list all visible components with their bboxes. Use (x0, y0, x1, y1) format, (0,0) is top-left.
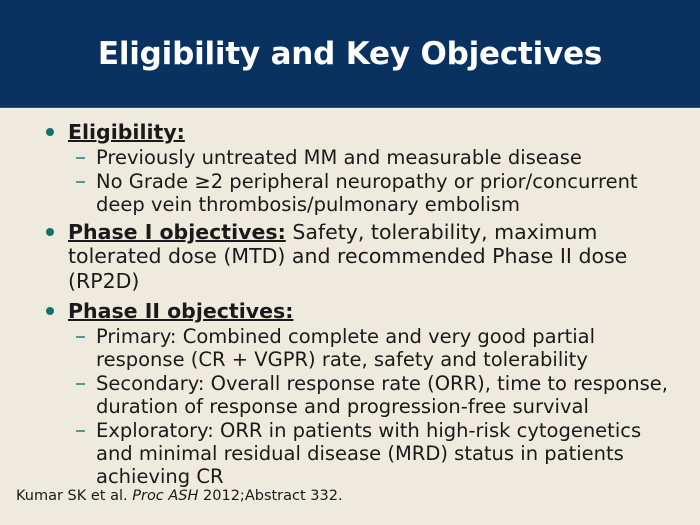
sub-bullet-item: No Grade ≥2 peripheral neuropathy or pri… (36, 170, 676, 216)
citation-authors: Kumar SK et al. (16, 488, 132, 504)
bullet-item-eligibility: Eligibility: (36, 120, 676, 145)
citation-footer: Kumar SK et al. Proc ASH 2012;Abstract 3… (16, 488, 343, 505)
dash-marker-icon (76, 181, 85, 183)
bullet-lead-label: Phase II objectives: (68, 299, 293, 323)
bullet-group-phase-i: Phase I objectives: Safety, tolerability… (36, 220, 676, 294)
bullet-list: Eligibility: Previously untreated MM and… (36, 120, 676, 489)
bullet-group-eligibility: Eligibility: Previously untreated MM and… (36, 120, 676, 216)
bullet-dot-icon (46, 228, 54, 236)
dash-marker-icon (76, 336, 85, 338)
sub-bullet-item: Primary: Combined complete and very good… (36, 325, 676, 371)
sub-bullet-text: No Grade ≥2 peripheral neuropathy or pri… (96, 170, 638, 216)
sub-bullet-text: Exploratory: ORR in patients with high-r… (96, 419, 641, 488)
bullet-dot-icon (46, 307, 54, 315)
bullet-item-phase-ii: Phase II objectives: (36, 299, 676, 324)
slide-body: Eligibility: Previously untreated MM and… (0, 108, 700, 525)
bullet-dot-icon (46, 128, 54, 136)
sub-bullet-item: Secondary: Overall response rate (ORR), … (36, 372, 676, 418)
slide: Eligibility and Key Objectives Eligibili… (0, 0, 700, 525)
bullet-lead-label: Eligibility: (68, 120, 185, 144)
dash-marker-icon (76, 157, 85, 159)
slide-title-band: Eligibility and Key Objectives (0, 0, 700, 108)
dash-marker-icon (76, 383, 85, 385)
sub-bullet-text: Secondary: Overall response rate (ORR), … (96, 372, 668, 418)
citation-journal: Proc ASH (132, 488, 198, 504)
dash-marker-icon (76, 430, 85, 432)
page-title: Eligibility and Key Objectives (78, 37, 622, 71)
sub-bullet-item: Previously untreated MM and measurable d… (36, 146, 676, 169)
bullet-group-phase-ii: Phase II objectives: Primary: Combined c… (36, 299, 676, 488)
sub-bullet-text: Primary: Combined complete and very good… (96, 325, 595, 371)
sub-bullet-text: Previously untreated MM and measurable d… (96, 146, 582, 169)
sub-bullet-item: Exploratory: ORR in patients with high-r… (36, 419, 676, 488)
citation-details: 2012;Abstract 332. (198, 488, 342, 504)
bullet-item-phase-i: Phase I objectives: Safety, tolerability… (36, 220, 676, 294)
bullet-lead-label: Phase I objectives: (68, 220, 286, 244)
